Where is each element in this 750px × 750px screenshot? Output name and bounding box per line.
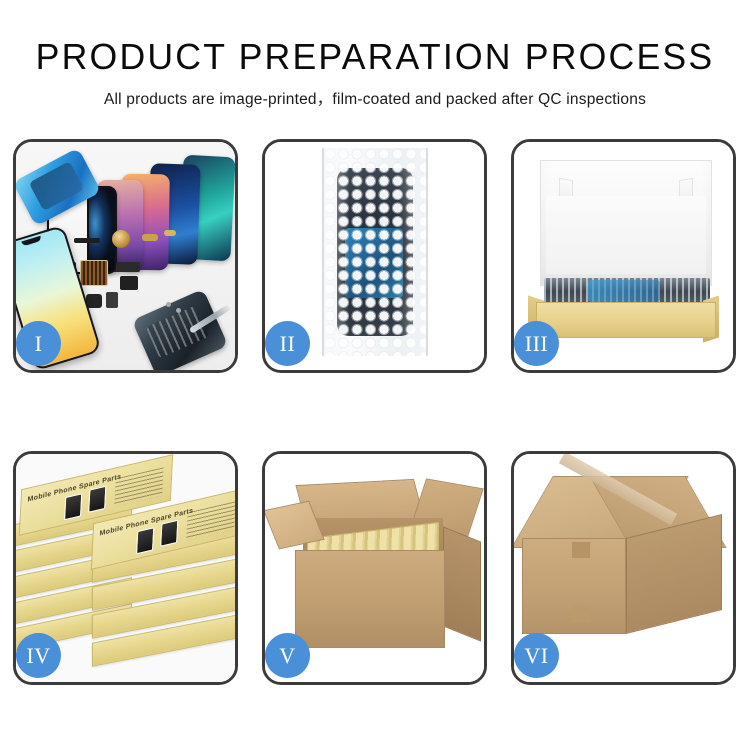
step-panel-3: III (511, 139, 736, 373)
carton-side-panel (443, 526, 481, 641)
spare-part (74, 238, 100, 243)
spare-part (142, 234, 158, 241)
step-badge-2: II (265, 321, 310, 366)
box-spec-lines (186, 501, 235, 540)
box-artwork-phone (88, 486, 106, 513)
box-artwork-phone (64, 493, 82, 520)
spare-part-connector-grid (80, 260, 108, 286)
step-panel-1: I (13, 139, 238, 373)
box-artwork-phone (136, 527, 154, 554)
spare-part-flex-cable (116, 262, 140, 272)
step-panel-6: VI (511, 451, 736, 685)
carton-front-panel (295, 550, 445, 648)
page-title: PRODUCT PREPARATION PROCESS (4, 36, 747, 78)
step-badge-6: VI (514, 633, 559, 678)
spare-part (120, 276, 138, 290)
bubble-wrap-bag (322, 148, 428, 356)
box-artwork-phone (160, 520, 178, 547)
step-panel-5: V (262, 451, 487, 685)
bag-sheen (324, 148, 426, 356)
step-badge-4: IV (16, 633, 61, 678)
box-front-panel (536, 302, 716, 338)
steps-grid: I II (13, 139, 737, 685)
spare-part-speaker (112, 230, 130, 248)
carton-tab (572, 542, 590, 558)
carton-tab (572, 606, 590, 622)
step-badge-3: III (514, 321, 559, 366)
header: PRODUCT PREPARATION PROCESS All products… (0, 0, 750, 109)
product-preparation-infographic: PRODUCT PREPARATION PROCESS All products… (0, 0, 750, 750)
box-spec-lines (114, 467, 163, 506)
spare-part (106, 292, 118, 308)
spare-part-screw (166, 302, 171, 307)
step-panel-4: Mobile Phone Spare Parts Mobile Phone Sp… (13, 451, 238, 685)
step-panel-2: II (262, 139, 487, 373)
step-badge-5: V (265, 633, 310, 678)
foam-insert (546, 196, 706, 274)
spare-part (164, 230, 176, 236)
spare-part-screw (176, 308, 181, 313)
page-subtitle: All products are image-printed，film-coat… (0, 87, 750, 109)
step-badge-1: I (16, 321, 61, 366)
spare-part (86, 294, 102, 308)
